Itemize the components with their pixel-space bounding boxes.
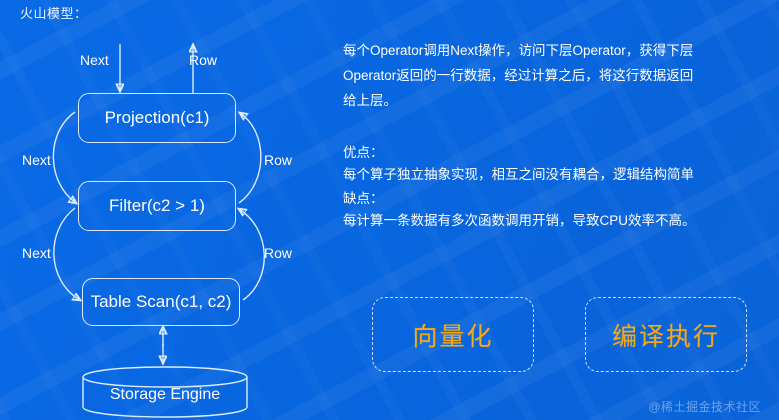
operator-box-filter[interactable]: Filter(c2 > 1) — [78, 181, 236, 231]
arrow-row-tablescan-filter — [239, 209, 264, 300]
cons-body: 每计算一条数据有多次函数调用开销，导致CPU效率不高。 — [343, 208, 696, 233]
operator-box-table-scan-label: Table Scan(c1, c2) — [91, 292, 232, 312]
description-paragraph: 每个Operator调用Next操作，访问下层Operator，获得下层 Ope… — [343, 38, 693, 113]
edge-label-row-tablescan-filter: Row — [264, 245, 292, 261]
operator-box-projection[interactable]: Projection(c1) — [78, 93, 236, 143]
edge-label-row-filter-projection: Row — [264, 152, 292, 168]
description-line-1: 每个Operator调用Next操作，访问下层Operator，获得下层 — [343, 38, 693, 63]
description-line-3: 给上层。 — [343, 88, 693, 113]
pros-body: 每个算子独立抽象实现，相互之间没有耦合，逻辑结构简单 — [343, 162, 694, 187]
edge-label-row-top: Row — [189, 52, 217, 68]
edge-label-next-projection-filter: Next — [22, 152, 51, 168]
edge-label-next-filter-tablescan: Next — [22, 245, 51, 261]
edge-label-next-top: Next — [80, 52, 109, 68]
arrow-next-filter-tablescan — [54, 208, 80, 300]
operator-box-projection-label: Projection(c1) — [105, 108, 210, 128]
card-compile-execute[interactable]: 编译执行 — [585, 297, 747, 372]
description-line-2: Operator返回的一行数据，经过计算之后，将这行数据返回 — [343, 63, 693, 88]
storage-engine-cylinder[interactable]: Storage Engine — [82, 366, 248, 418]
card-vectorize[interactable]: 向量化 — [372, 297, 534, 372]
arrow-next-projection-filter — [53, 112, 76, 203]
operator-box-table-scan[interactable]: Table Scan(c1, c2) — [82, 278, 240, 326]
storage-engine-label: Storage Engine — [82, 386, 248, 404]
watermark-credit: @稀土掘金技术社区 — [648, 398, 761, 415]
card-vectorize-label: 向量化 — [412, 317, 493, 353]
arrow-row-filter-projection — [239, 113, 261, 203]
operator-box-filter-label: Filter(c2 > 1) — [109, 196, 205, 216]
slide-canvas: 火山模型： Projection(c1) Filter(c2 > 1) Tabl… — [0, 0, 779, 420]
card-compile-execute-label: 编译执行 — [612, 317, 720, 353]
